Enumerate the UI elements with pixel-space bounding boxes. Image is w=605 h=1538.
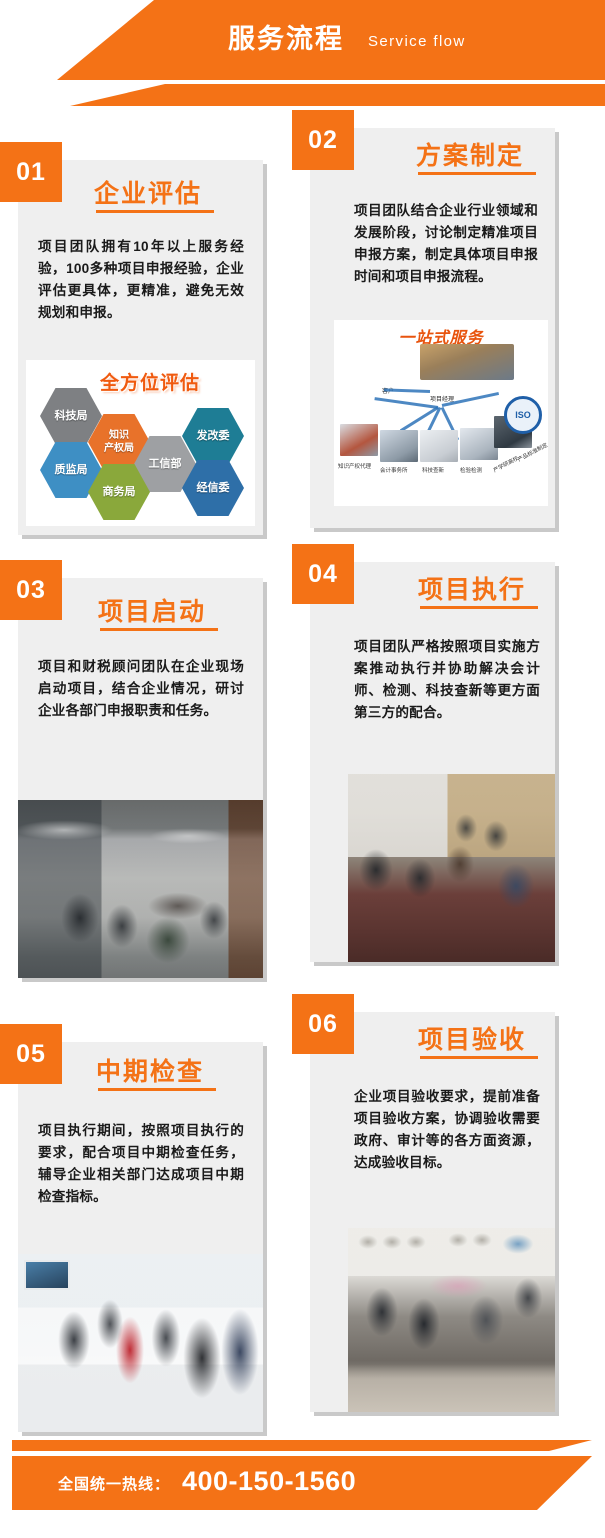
footer-hotline-number[interactable]: 400-150-1560 [182, 1466, 356, 1497]
step-number-badge-06: 06 [292, 994, 354, 1054]
onestop-thumb-search [420, 430, 458, 462]
header-orange-stripe [0, 84, 605, 106]
onestop-arrow-3 [374, 397, 438, 409]
step-title-rule-06 [420, 1056, 538, 1059]
step-number-badge-05: 05 [0, 1024, 62, 1084]
footer-hotline-label: 全国统一热线： [58, 1473, 170, 1494]
step-body-02: 项目团队结合企业行业领域和发展阶段，讨论制定精准项目申报方案，制定具体项目申报时… [354, 200, 538, 288]
onestop-caption-accounting: 会计事务所 [380, 466, 408, 474]
step-title-04: 项目执行 [418, 570, 526, 606]
step-photo-05 [18, 1254, 263, 1432]
onestop-service-diagram: 一站式服务 客户 项目经理 ISO 知识产权代理 会计事务所 科技查新 检验检测… [334, 320, 548, 506]
step-card-02: 02 方案制定 项目团队结合企业行业领域和发展阶段，讨论制定精准项目申报方案，制… [310, 128, 555, 528]
step-title-06: 项目验收 [418, 1020, 526, 1056]
step-card-03: 03 项目启动 项目和财税顾问团队在企业现场启动项目，结合企业情况，研讨企业各部… [18, 578, 263, 978]
step-body-01: 项目团队拥有10年以上服务经验，100多种项目申报经验，企业评估更具体，更精准，… [38, 236, 244, 324]
step-title-03: 项目启动 [98, 592, 206, 628]
onestop-thumb-accounting [380, 430, 418, 462]
step-card-01: 01 企业评估 项目团队拥有10年以上服务经验，100多种项目申报经验，企业评估… [18, 160, 263, 535]
onestop-thumb-ip [340, 424, 378, 456]
step-title-05: 中期检查 [96, 1052, 204, 1088]
step-photo-03 [18, 800, 263, 978]
service-flow-infographic: 服务流程 Service flow 01 企业评估 项目团队拥有10年以上服务经… [0, 0, 605, 1538]
onestop-caption-testing: 检验检测 [460, 466, 482, 474]
step-number-badge-03: 03 [0, 560, 62, 620]
step-body-03: 项目和财税顾问团队在企业现场启动项目，结合企业情况，研讨企业各部门申报职责和任务… [38, 656, 244, 722]
step-card-04: 04 项目执行 项目团队严格按照项目实施方案推动执行并协助解决会计师、检测、科技… [310, 562, 555, 962]
step-body-06: 企业项目验收要求，提前准备项目验收方案，协调验收需要政府、审计等的各方面资源，达… [354, 1086, 540, 1174]
page-title: 服务流程 [228, 22, 344, 56]
page-subtitle: Service flow [368, 33, 466, 50]
page-header: 服务流程 Service flow [0, 0, 605, 108]
step-title-rule-04 [420, 606, 538, 609]
step-photo-06 [348, 1228, 555, 1412]
step-card-06: 06 项目验收 企业项目验收要求，提前准备项目验收方案，协调验收需要政府、审计等… [310, 1012, 555, 1412]
hex-diagram-title: 全方位评估 [100, 368, 200, 395]
step-number-badge-04: 04 [292, 544, 354, 604]
step-title-rule-05 [98, 1088, 216, 1091]
onestop-meeting-photo [420, 344, 514, 380]
step-number-badge-02: 02 [292, 110, 354, 170]
step-card-05: 05 中期检查 项目执行期间，按照项目执行的要求，配合项目中期检查任务，辅导企业… [18, 1042, 263, 1432]
step-title-01: 企业评估 [94, 174, 202, 210]
hex-diagram: 全方位评估 科技局 知识产权局 发改委 质监局 工信部 商务局 经信委 [26, 360, 255, 526]
onestop-caption-search: 科技查新 [422, 466, 444, 474]
onestop-thumb-testing [460, 428, 498, 460]
step-title-02: 方案制定 [416, 136, 524, 172]
step-photo-04 [348, 774, 555, 962]
onestop-caption-ip: 知识产权代理 [338, 462, 371, 470]
step-body-05: 项目执行期间，按照项目执行的要求，配合项目中期检查任务，辅导企业相关部门达成项目… [38, 1120, 244, 1208]
footer-orange-stripe [12, 1440, 592, 1451]
step-body-04: 项目团队严格按照项目实施方案推动执行并协助解决会计师、检测、科技查新等更方面第三… [354, 636, 540, 724]
step-number-badge-01: 01 [0, 142, 62, 202]
step-title-rule-03 [100, 628, 218, 631]
step-title-rule-01 [96, 210, 214, 213]
onestop-iso-seal-icon: ISO [504, 396, 542, 434]
step-title-rule-02 [418, 172, 536, 175]
